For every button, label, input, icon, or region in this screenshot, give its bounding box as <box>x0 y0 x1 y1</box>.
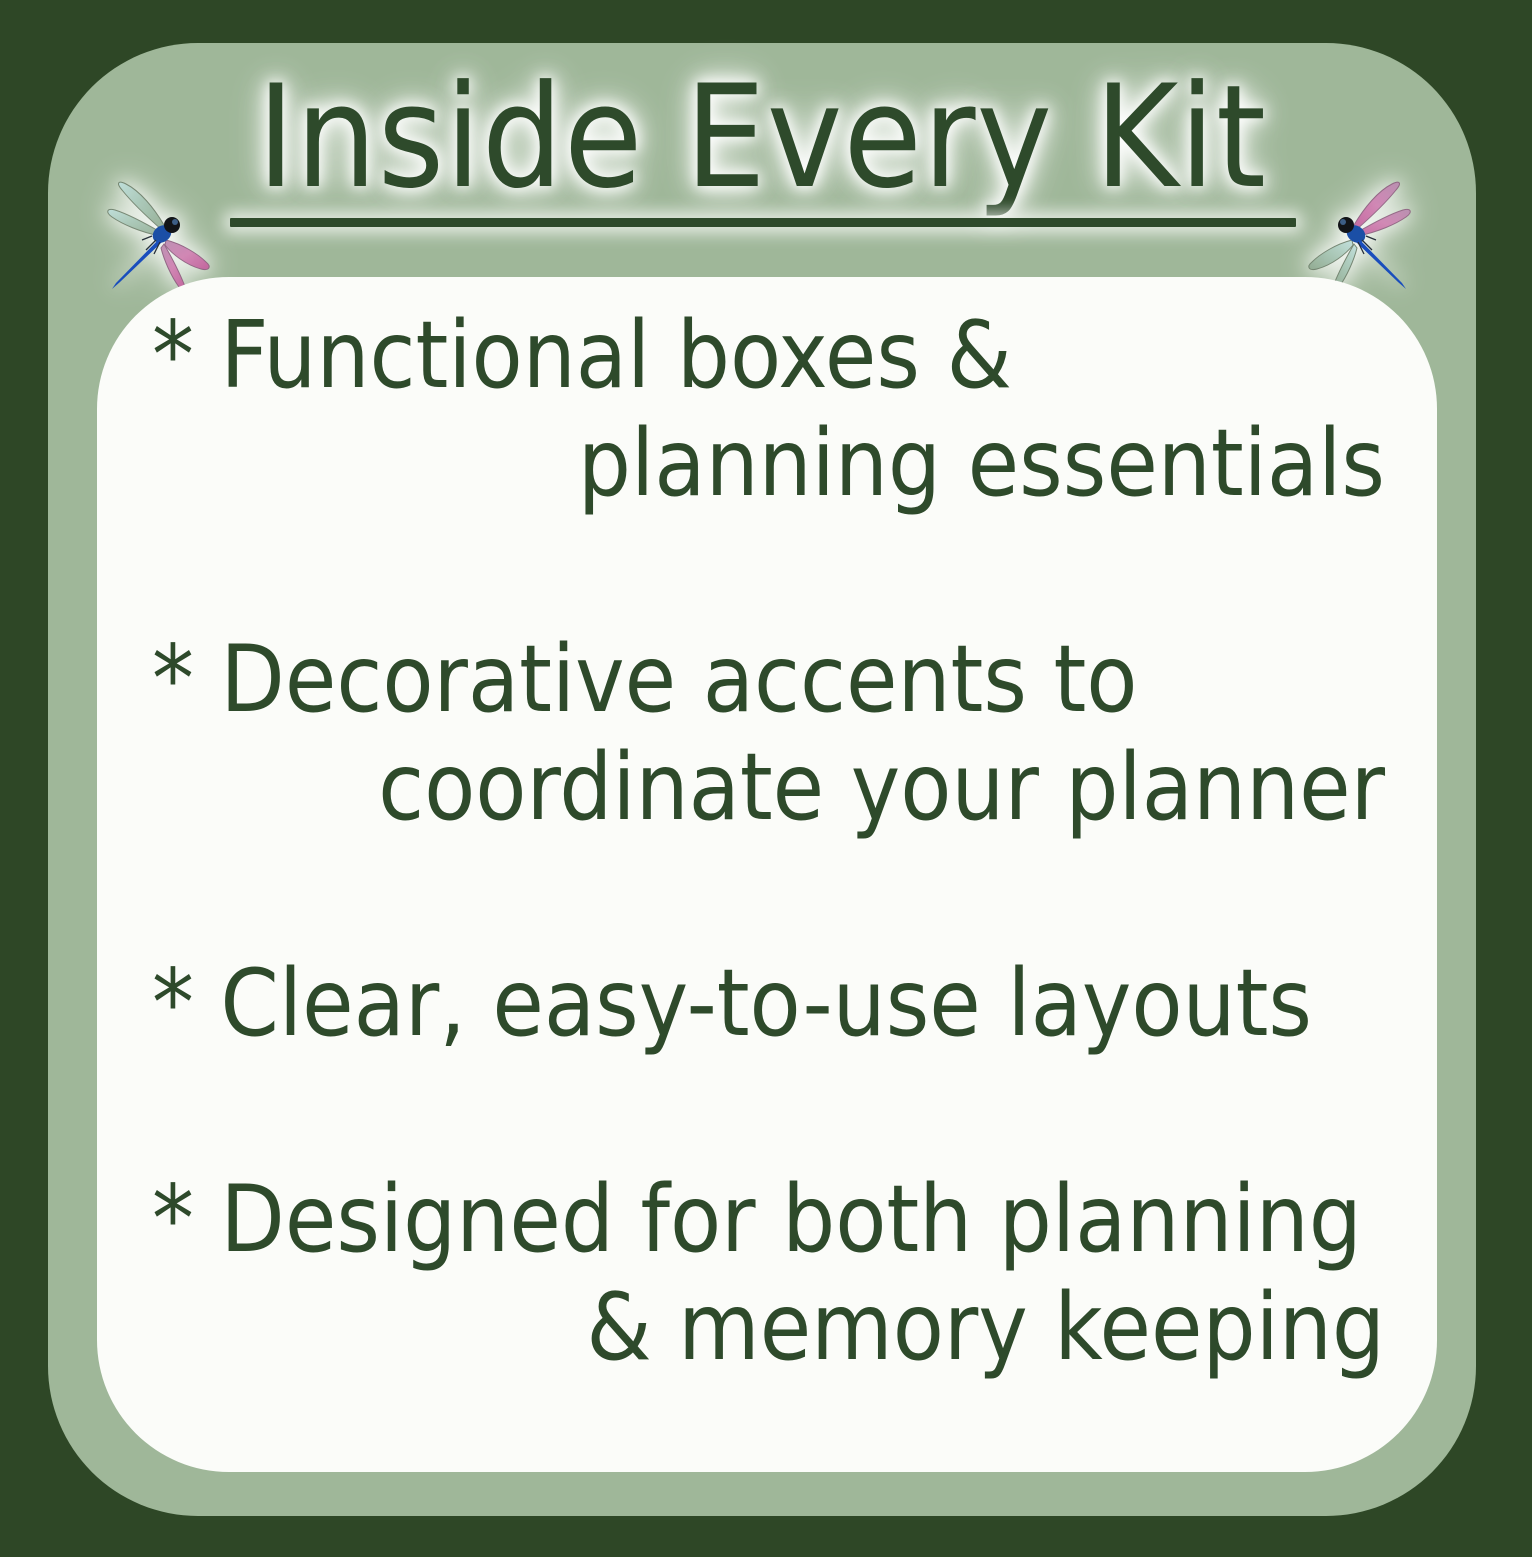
card-panel: Inside Every Kit <box>48 43 1476 1516</box>
inside-every-kit-card: Inside Every Kit <box>0 0 1532 1557</box>
list-item: * Designed for both planning & memory ke… <box>97 1165 1437 1381</box>
title-underline-rule <box>230 218 1296 227</box>
card-title-block: Inside Every Kit <box>48 63 1476 273</box>
bullet-line-secondary: & memory keeping <box>97 1273 1437 1381</box>
card-content-panel: * Functional boxes & planning essentials… <box>97 277 1437 1472</box>
list-item: * Functional boxes & planning essentials <box>97 301 1437 517</box>
bullet-line-secondary: coordinate your planner <box>97 733 1437 841</box>
feature-bullet-list: * Functional boxes & planning essentials… <box>97 277 1437 1472</box>
bullet-line-secondary: planning essentials <box>97 409 1437 517</box>
bullet-line-primary: * Functional boxes & <box>97 301 1437 409</box>
list-item: * Clear, easy-to-use layouts <box>97 949 1437 1057</box>
list-item: * Decorative accents to coordinate your … <box>97 625 1437 841</box>
dragonfly-icon <box>1306 170 1422 294</box>
page-title: Inside Every Kit <box>243 63 1281 213</box>
bullet-line-primary: * Designed for both planning <box>97 1165 1437 1273</box>
dragonfly-icon <box>96 170 212 294</box>
bullet-line-primary: * Decorative accents to <box>97 625 1437 733</box>
bullet-line-primary: * Clear, easy-to-use layouts <box>97 949 1437 1057</box>
